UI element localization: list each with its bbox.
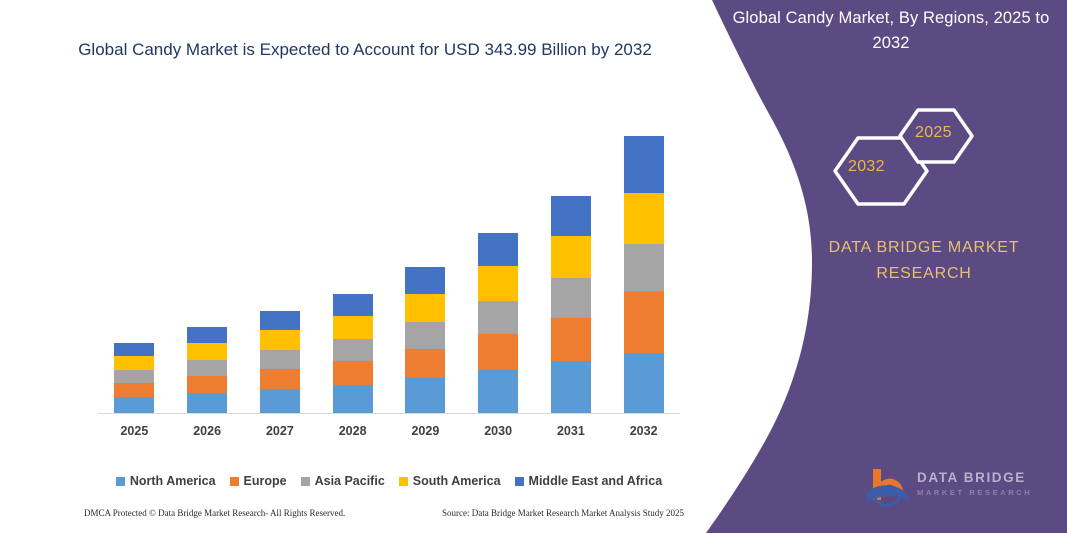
bar-segment [551,196,591,236]
legend-label: North America [130,474,216,488]
bar-segment [333,294,373,316]
bar-segment [333,339,373,361]
legend-label: Europe [244,474,287,488]
legend-label: Middle East and Africa [529,474,663,488]
legend-swatch-icon [116,477,125,486]
bar-segment [624,291,664,353]
bar-column [405,267,445,414]
infographic-page: Global Candy Market, By Regions, 2025 to… [0,0,1067,533]
chart-legend: North AmericaEuropeAsia PacificSouth Ame… [98,472,680,490]
bar-segment [478,266,518,301]
hexagon-label-front: 2025 [915,124,952,142]
x-axis-label: 2028 [317,424,389,438]
panel-title: Global Candy Market, By Regions, 2025 to… [730,6,1052,56]
legend-label: Asia Pacific [315,474,385,488]
bar-segment [114,370,154,383]
bar-segment [405,378,445,414]
x-axis-line [98,413,680,414]
bar-segment [333,385,373,414]
logo-text-primary: DATA BRIDGE [917,470,1032,486]
legend-swatch-icon [515,477,524,486]
footer: DMCA Protected © Data Bridge Market Rese… [84,508,684,524]
stacked-bar-chart [98,120,680,414]
bar-segment [551,318,591,361]
x-axis-label: 2026 [171,424,243,438]
bar-segment [260,350,300,369]
bar-column [478,233,518,414]
bar-column [187,327,227,414]
chart-title: Global Candy Market is Expected to Accou… [60,36,670,63]
x-axis-label: 2027 [244,424,316,438]
legend-swatch-icon [301,477,310,486]
bar-segment [187,327,227,343]
x-axis-label: 2032 [608,424,680,438]
bar-segment [405,349,445,378]
bar-segment [114,383,154,397]
bar-segment [114,356,154,370]
bar-segment [551,278,591,318]
bar-segment [478,334,518,370]
legend-swatch-icon [399,477,408,486]
brand-name: DATA BRIDGE MARKET RESEARCH [806,235,1042,287]
hexagon-badges: 2032 2025 [812,96,992,226]
bar-segment [405,267,445,294]
bar-column [260,311,300,414]
hexagon-label-back: 2032 [848,158,885,176]
x-axis-labels: 20252026202720282029203020312032 [98,424,680,446]
bar-segment [260,311,300,330]
logo-text-secondary: MARKET RESEARCH [917,486,1032,499]
bar-segment [114,343,154,356]
legend-item[interactable]: North America [116,474,216,488]
bar-segment [260,330,300,350]
bar-segment [260,389,300,414]
legend-item[interactable]: Asia Pacific [301,474,385,488]
bar-segment [333,361,373,385]
x-axis-label: 2025 [98,424,170,438]
bar-segment [187,376,227,393]
footer-source: Source: Data Bridge Market Research Mark… [442,508,684,518]
x-axis-label: 2029 [389,424,461,438]
bridge-mark-icon [865,466,917,508]
legend-item[interactable]: Middle East and Africa [515,474,663,488]
legend-item[interactable]: South America [399,474,501,488]
legend-swatch-icon [230,477,239,486]
legend-label: South America [413,474,501,488]
bar-segment [624,136,664,193]
bar-segment [624,244,664,291]
bar-column [551,196,591,414]
footer-copyright: DMCA Protected © Data Bridge Market Rese… [84,508,345,518]
bar-column [333,294,373,414]
bar-column [114,343,154,414]
bar-column [624,136,664,414]
legend-item[interactable]: Europe [230,474,287,488]
bar-segment [624,193,664,244]
bar-segment [624,353,664,414]
bar-segment [551,361,591,414]
data-bridge-logo: DATA BRIDGE MARKET RESEARCH [865,466,1045,512]
bar-segment [187,360,227,376]
bar-segment [187,343,227,360]
x-axis-label: 2031 [535,424,607,438]
bar-segment [551,236,591,278]
bar-segment [478,233,518,266]
bar-segment [478,301,518,334]
bar-segment [405,294,445,322]
bar-segment [405,322,445,349]
bar-segment [114,397,154,414]
bar-segment [260,369,300,389]
bar-segment [187,393,227,414]
bar-segment [333,316,373,339]
x-axis-label: 2030 [462,424,534,438]
bar-segment [478,370,518,414]
